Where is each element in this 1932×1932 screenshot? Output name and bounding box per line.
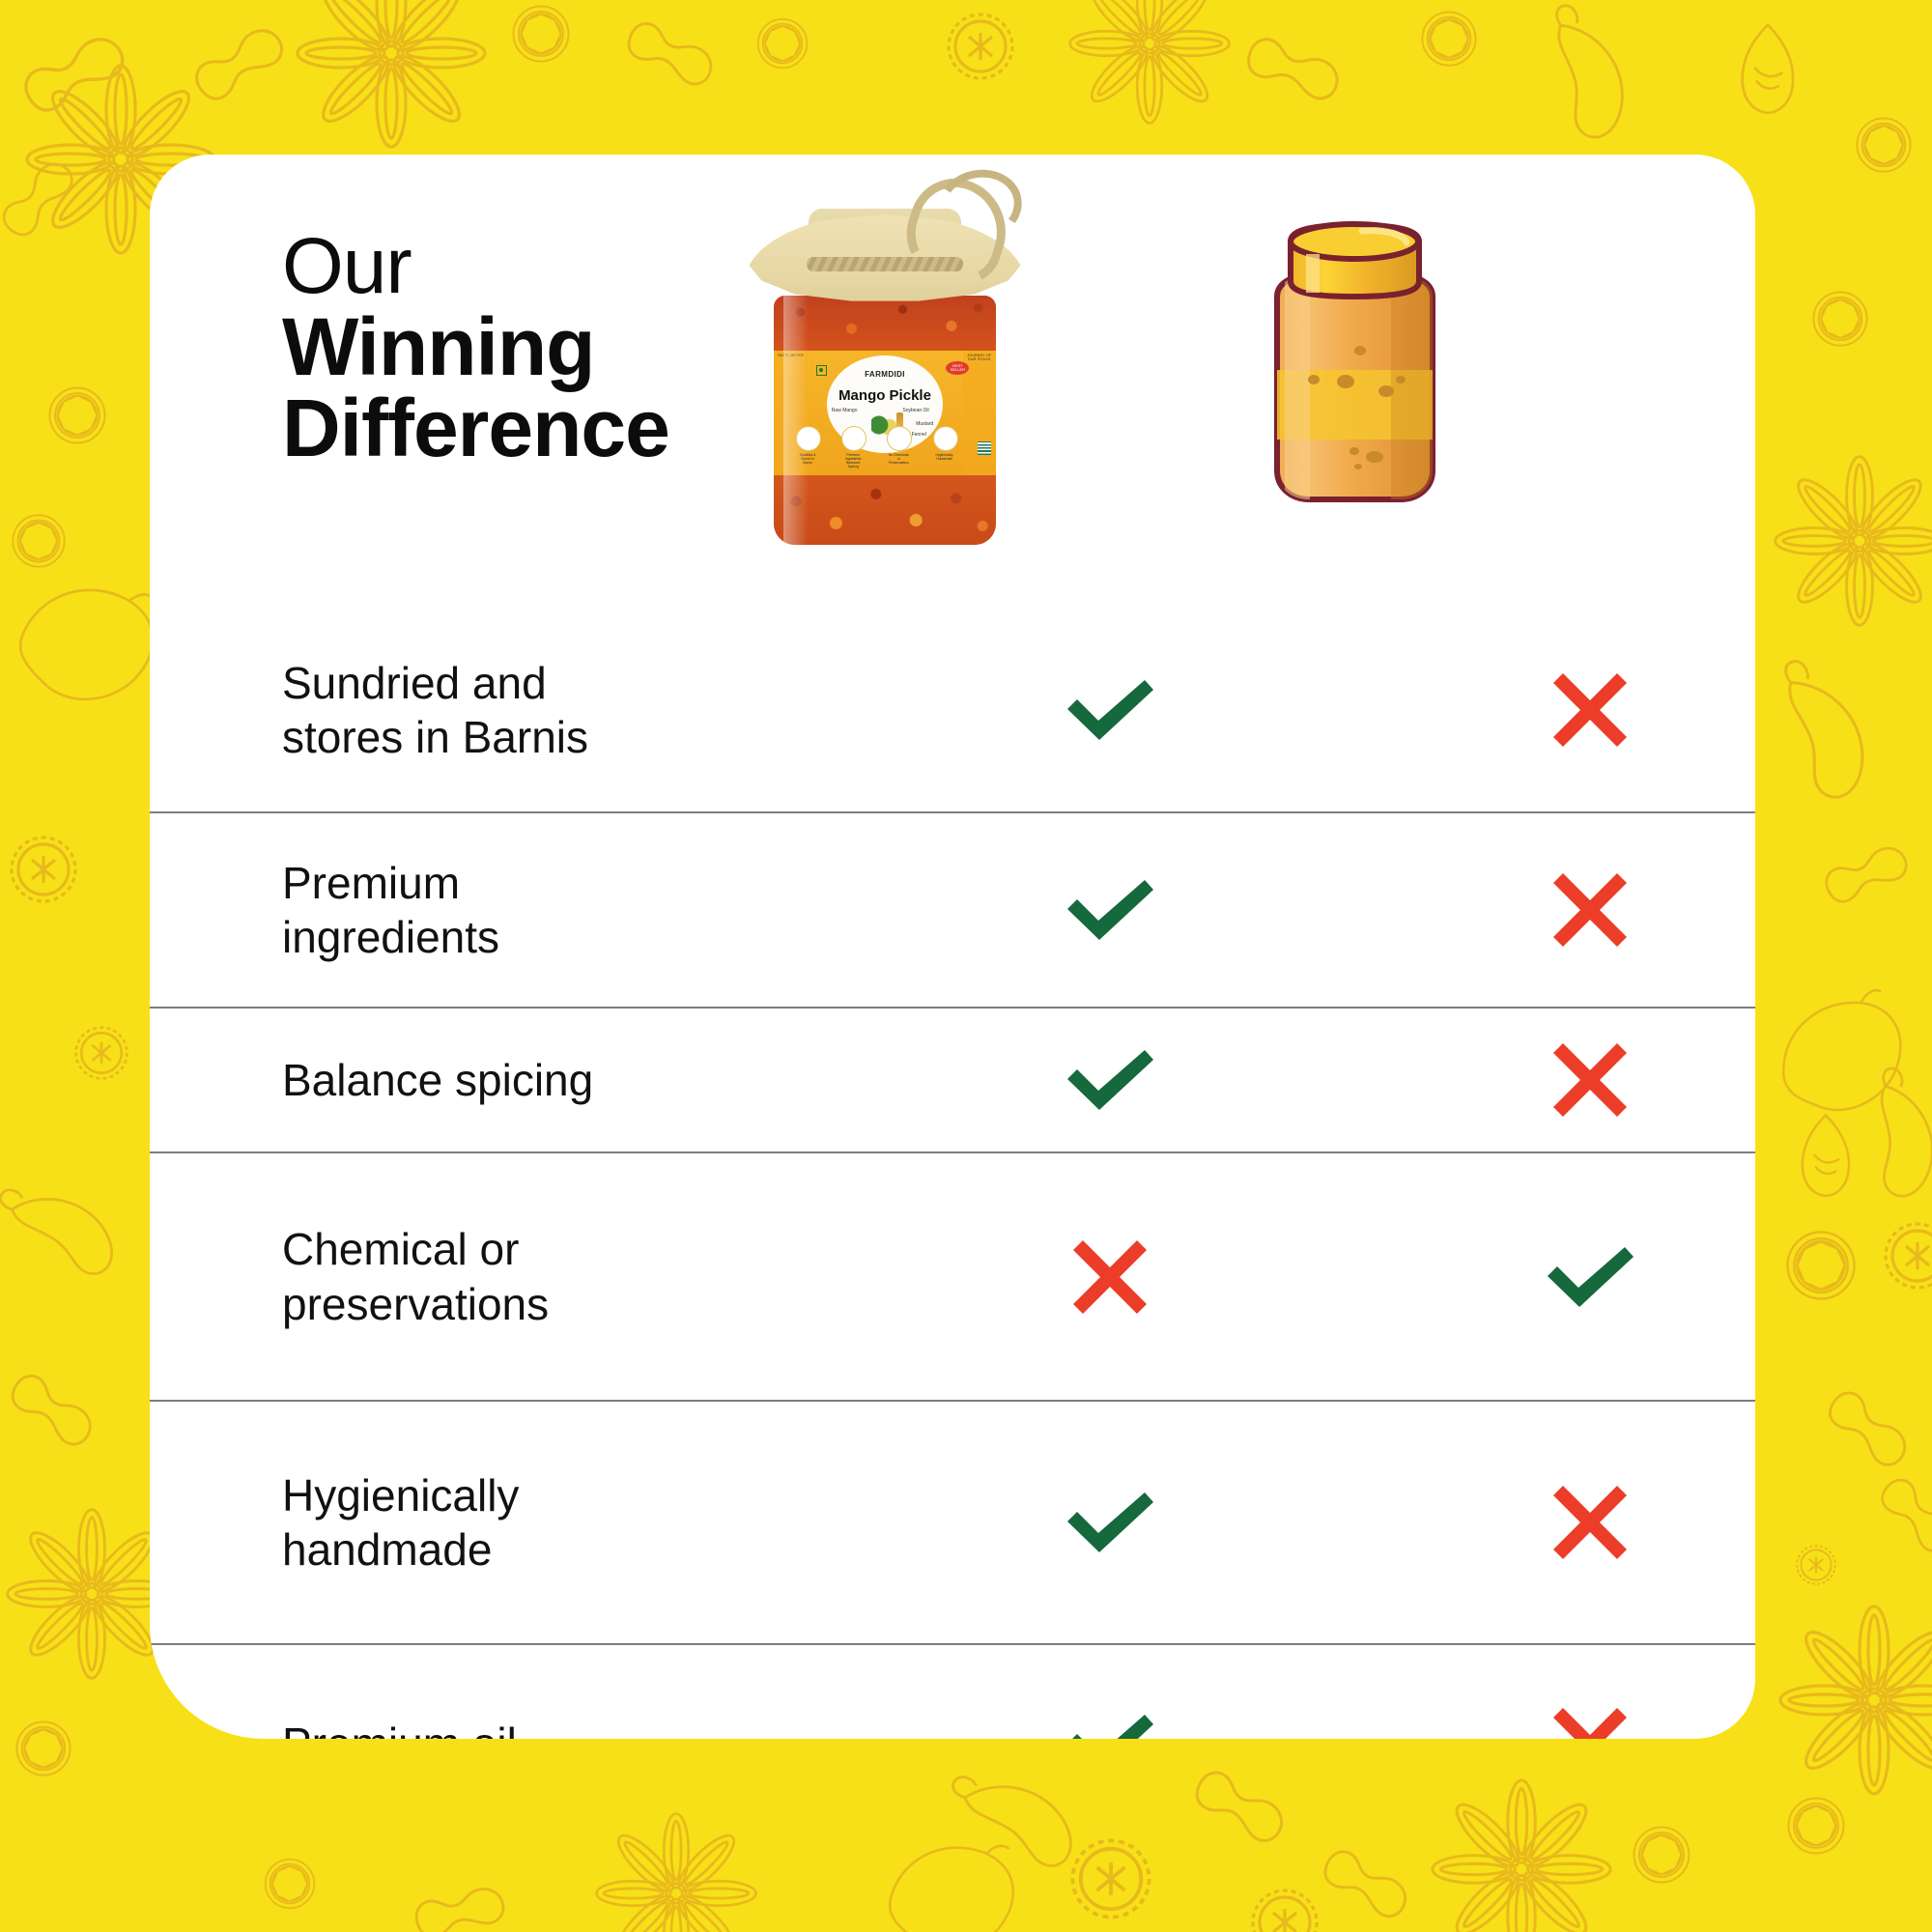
comparison-table: Sundried and stores in Barnis Premium in… [150, 609, 1755, 1739]
qr-code-icon [978, 441, 991, 455]
feature-label: Premium oil [150, 1717, 818, 1739]
theirs-mark-row-5 [1425, 1482, 1755, 1563]
ours-mark-row-1 [944, 672, 1274, 748]
jar-glass-highlight [783, 296, 809, 545]
ours-mark-row-4 [944, 1236, 1274, 1318]
check-icon [1062, 872, 1158, 948]
mortar-pestle-icon [841, 426, 867, 451]
cross-icon [1549, 669, 1631, 751]
table-row: Hygienically handmade [150, 1402, 1755, 1645]
hands-heart-icon [933, 426, 958, 451]
check-icon [1062, 1042, 1158, 1118]
feature-label: Chemical or preservations [150, 1222, 818, 1330]
competitor-pickle-jar [1246, 208, 1463, 517]
feature-label: Balance spicing [150, 1053, 818, 1107]
feature-label: Sundried and stores in Barnis [150, 656, 818, 764]
journey-title: JOURNEY OF OUR PICKLE [963, 351, 997, 361]
cross-icon [1069, 1236, 1151, 1318]
check-icon [1542, 1239, 1638, 1315]
badge-handmade: Hygienically Handmade [933, 426, 956, 469]
feature-label: Premium ingredients [150, 856, 818, 964]
page-title: Our Winning Difference [282, 227, 669, 469]
card-header: Our Winning Difference TASTE METER JOURN… [150, 155, 1755, 609]
label-badge-row: Sundried & Stored in Barnis Premium Ingr… [796, 426, 956, 469]
badge-premium: Premium Ingredients Balanced Spicing [841, 426, 865, 469]
cross-icon [1549, 1704, 1631, 1740]
theirs-mark-row-3 [1425, 1039, 1755, 1121]
check-icon [1062, 672, 1158, 748]
table-row: Premium ingredients [150, 813, 1755, 1009]
cross-icon [1549, 1039, 1631, 1121]
theirs-mark-row-6 [1425, 1704, 1755, 1740]
farmdidi-product-jar: TASTE METER JOURNEY OF OUR PICKLE BEST S… [739, 164, 1029, 551]
title-line-3: Difference [282, 387, 669, 469]
comparison-card: Our Winning Difference TASTE METER JOURN… [150, 155, 1755, 1739]
theirs-mark-row-2 [1425, 869, 1755, 951]
title-line-1: Our [282, 227, 669, 306]
feature-label: Hygienically handmade [150, 1468, 818, 1577]
ingredient-raw-mango: Raw Mango [832, 408, 858, 413]
ours-mark-row-5 [944, 1485, 1274, 1560]
cross-icon [1549, 1482, 1631, 1563]
ingredient-soybean-oil: Soybean Oil [902, 408, 928, 413]
table-row: Premium oil [150, 1645, 1755, 1739]
ours-mark-row-3 [944, 1042, 1274, 1118]
table-row: Balance spicing [150, 1009, 1755, 1153]
jar-glass-body: TASTE METER JOURNEY OF OUR PICKLE BEST S… [774, 296, 996, 545]
ours-mark-row-6 [944, 1707, 1274, 1740]
leaf-icon [887, 426, 912, 451]
ours-mark-row-2 [944, 872, 1274, 948]
cross-icon [1549, 869, 1631, 951]
theirs-mark-row-4 [1425, 1239, 1755, 1315]
badge-no-chemicals: No Chemicals or Preservatives [887, 426, 910, 469]
check-icon [1062, 1707, 1158, 1740]
title-line-2: Winning [282, 306, 669, 387]
check-icon [1062, 1485, 1158, 1560]
theirs-mark-row-1 [1425, 669, 1755, 751]
table-row: Sundried and stores in Barnis [150, 609, 1755, 813]
table-row: Chemical or preservations [150, 1153, 1755, 1402]
